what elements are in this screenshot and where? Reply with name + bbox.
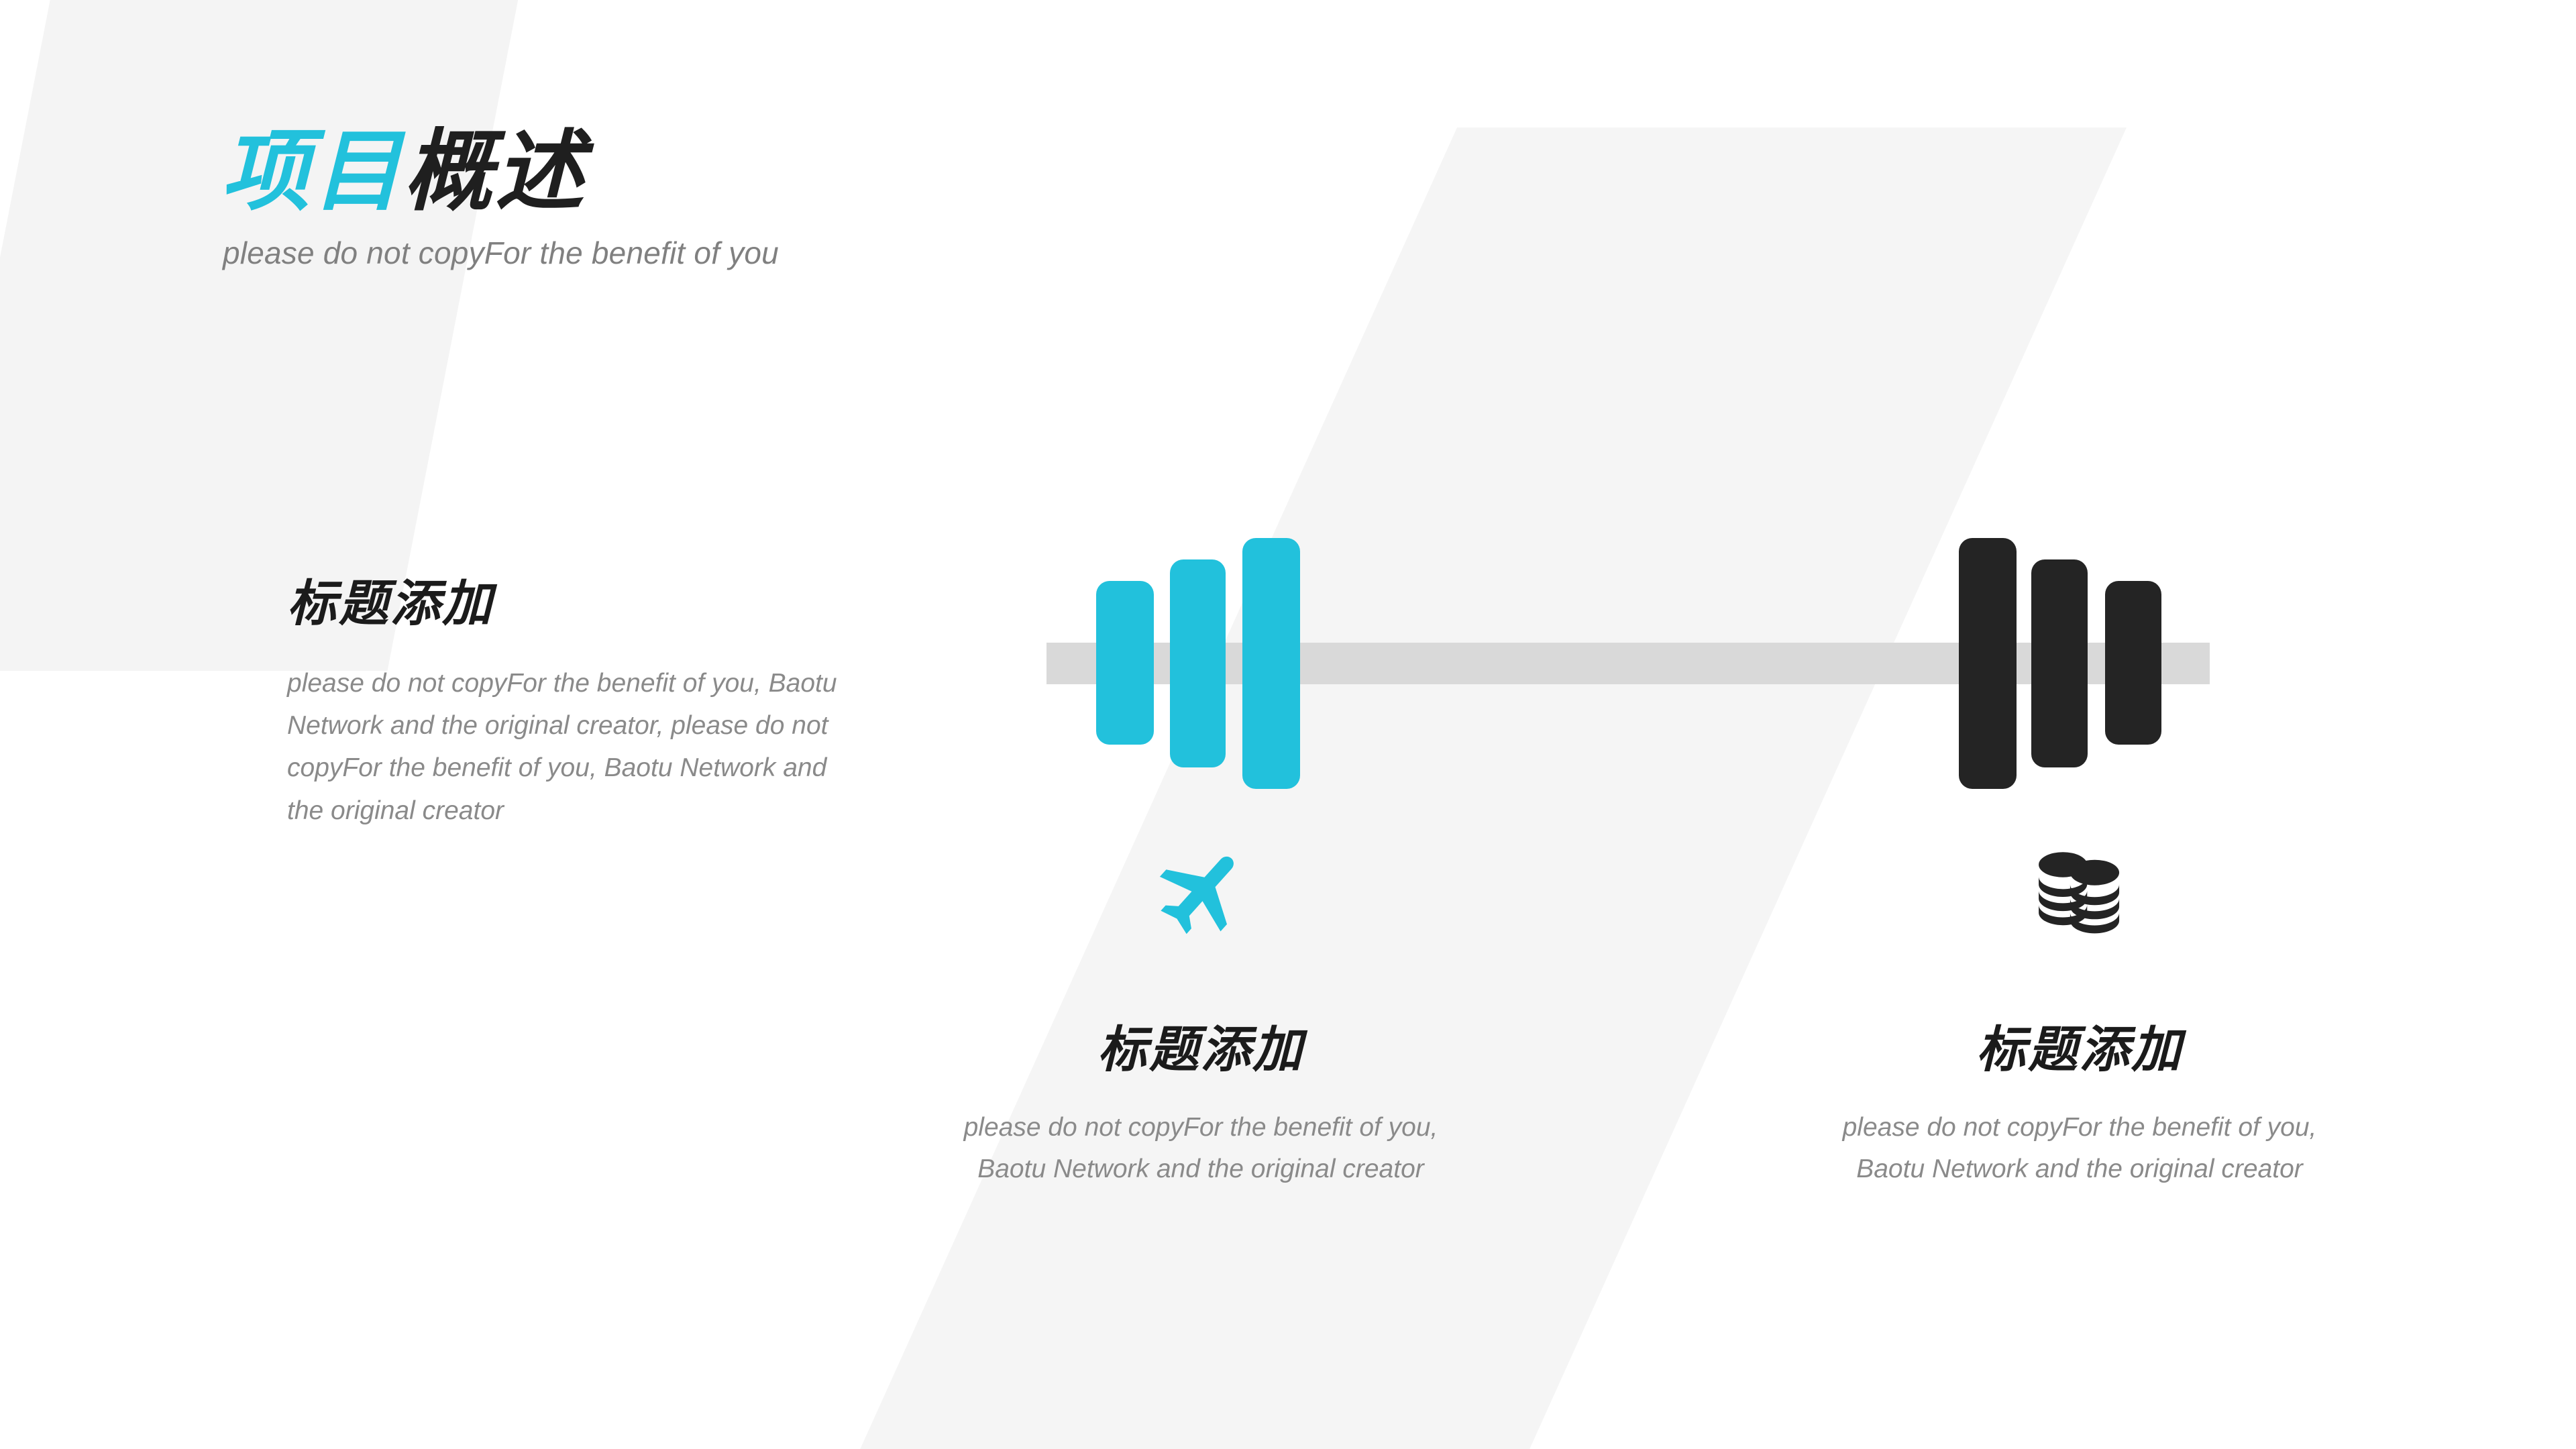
coins-stack-icon: [2029, 842, 2130, 943]
page-title-accent: 项目: [221, 120, 404, 223]
column-left-body: please do not copyFor the benefit of you…: [287, 662, 837, 832]
column-right-title: 标题添加: [1778, 1010, 2381, 1081]
airplane-icon: [1150, 842, 1251, 943]
column-right: 标题添加 please do not copyFor the benefit o…: [1778, 839, 2381, 1189]
barbell-plate-left-1: [1096, 581, 1154, 745]
airplane-icon-wrapper: [899, 839, 1503, 946]
background-parallelogram-main: [859, 127, 2127, 1449]
barbell-plate-right-3: [2105, 581, 2161, 745]
barbell-plate-right-1: [1959, 538, 2017, 789]
slide-header: 项目概述 please do not copyFor the benefit o…: [221, 127, 779, 271]
column-center-title: 标题添加: [899, 1010, 1503, 1081]
column-left-title: 标题添加: [287, 563, 851, 635]
page-title-rest: 概述: [404, 120, 586, 223]
barbell-plate-right-2: [2031, 559, 2088, 767]
column-left: 标题添加 please do not copyFor the benefit o…: [287, 563, 851, 832]
column-center-body: please do not copyFor the benefit of you…: [946, 1107, 1456, 1189]
page-subtitle: please do not copyFor the benefit of you: [223, 235, 779, 271]
slide-root: 项目概述 please do not copyFor the benefit o…: [0, 0, 2576, 1449]
column-right-body: please do not copyFor the benefit of you…: [1825, 1107, 2334, 1189]
page-title: 项目概述: [221, 127, 779, 216]
coins-stack-icon-wrapper: [1778, 839, 2381, 946]
column-center: 标题添加 please do not copyFor the benefit o…: [899, 839, 1503, 1189]
